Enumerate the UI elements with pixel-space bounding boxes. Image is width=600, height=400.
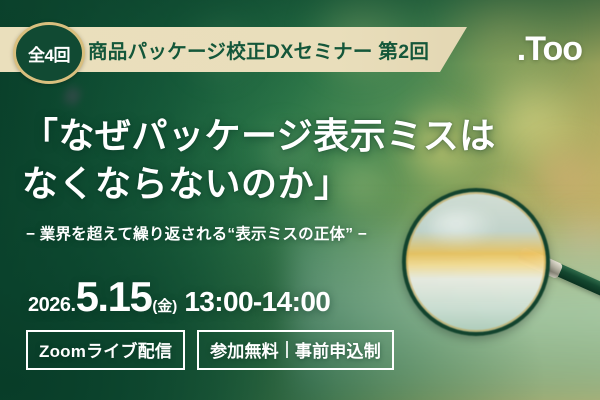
too-logo: .Too bbox=[517, 30, 582, 69]
session-count-badge: 全4回 bbox=[13, 22, 85, 84]
event-month-day: 5.15 bbox=[76, 276, 152, 318]
event-datetime: 2026. 5.15 (金) 13:00-14:00 bbox=[28, 276, 330, 318]
session-count-label: 全4回 bbox=[28, 41, 70, 66]
magnifier-glare bbox=[428, 208, 498, 248]
event-year: 2026. bbox=[28, 294, 76, 317]
headline-line-1: 「なぜパッケージ表示ミスは bbox=[22, 112, 496, 160]
info-badges: Zoomライブ配信 参加無料 事前申込制 bbox=[26, 330, 394, 370]
event-time: 13:00-14:00 bbox=[184, 286, 330, 318]
page-title: 「なぜパッケージ表示ミスは なくならないのか」 bbox=[22, 112, 496, 208]
status-badge-delivery: Zoomライブ配信 bbox=[26, 330, 185, 370]
magnifier-lens bbox=[402, 188, 550, 336]
seminar-banner: 商品パッケージ校正DXセミナー 第2回 全4回 .Too 「なぜパッケージ表示ミ… bbox=[0, 0, 600, 400]
delivery-label: Zoomライブ配信 bbox=[39, 337, 172, 362]
event-day-of-week: (金) bbox=[152, 295, 177, 316]
subtitle: − 業界を超えて繰り返される“表示ミスの正体” − bbox=[26, 222, 367, 244]
pre-registration-label: 事前申込制 bbox=[295, 337, 381, 362]
headline-line-2: なくならないのか」 bbox=[22, 160, 496, 208]
badge-separator bbox=[286, 341, 288, 358]
entry-free-label: 参加無料 bbox=[210, 337, 279, 362]
ribbon-title: 商品パッケージ校正DXセミナー 第2回 bbox=[88, 35, 429, 64]
status-badge-entry: 参加無料 事前申込制 bbox=[197, 330, 394, 370]
magnifying-glass-icon bbox=[396, 186, 600, 346]
